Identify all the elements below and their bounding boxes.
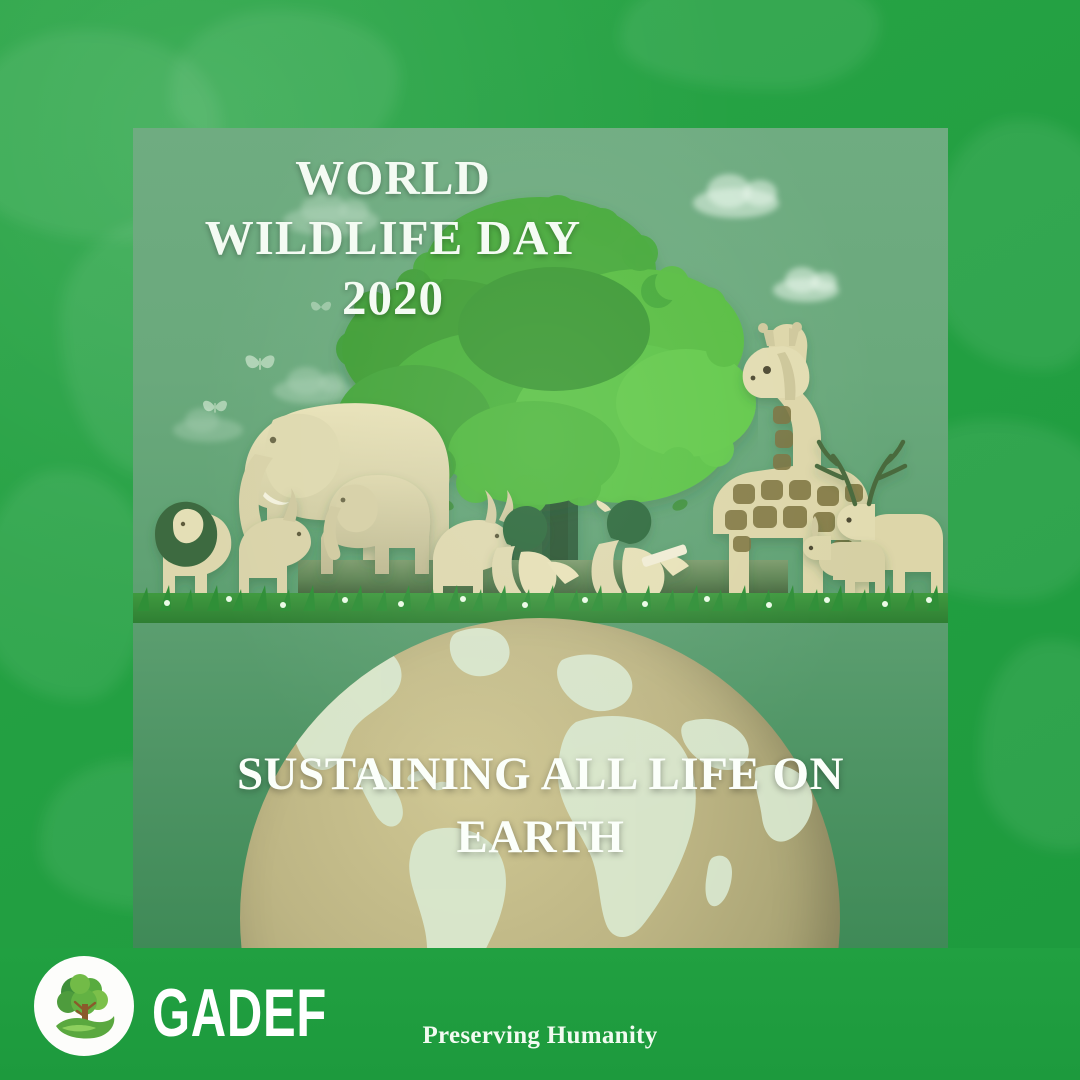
headline-line-2: WILDLIFE DAY — [133, 208, 653, 268]
world-map-watermark — [930, 120, 1080, 370]
world-map-watermark — [0, 470, 150, 700]
poster-canvas: WORLD WILDLIFE DAY 2020 SUSTAINING ALL L… — [0, 0, 1080, 1080]
world-map-watermark — [620, 0, 880, 90]
headline-line-3: 2020 — [133, 268, 653, 328]
world-map-watermark — [980, 640, 1080, 850]
tagline-line-2: EARTH — [173, 806, 908, 869]
tagline-line-1: SUSTAINING ALL LIFE ON — [237, 748, 844, 800]
wildlife-group — [133, 308, 948, 628]
poster-tagline: SUSTAINING ALL LIFE ON EARTH — [173, 743, 908, 870]
cloud-icon — [773, 278, 839, 302]
footer-bar: GADEF Preserving Humanity — [0, 948, 1080, 1080]
brand-tagline: Preserving Humanity — [0, 1022, 1080, 1050]
page-title: WORLD WILDLIFE DAY 2020 — [133, 148, 653, 327]
headline-line-1: WORLD — [133, 148, 653, 208]
artwork-panel: WORLD WILDLIFE DAY 2020 SUSTAINING ALL L… — [133, 128, 948, 948]
